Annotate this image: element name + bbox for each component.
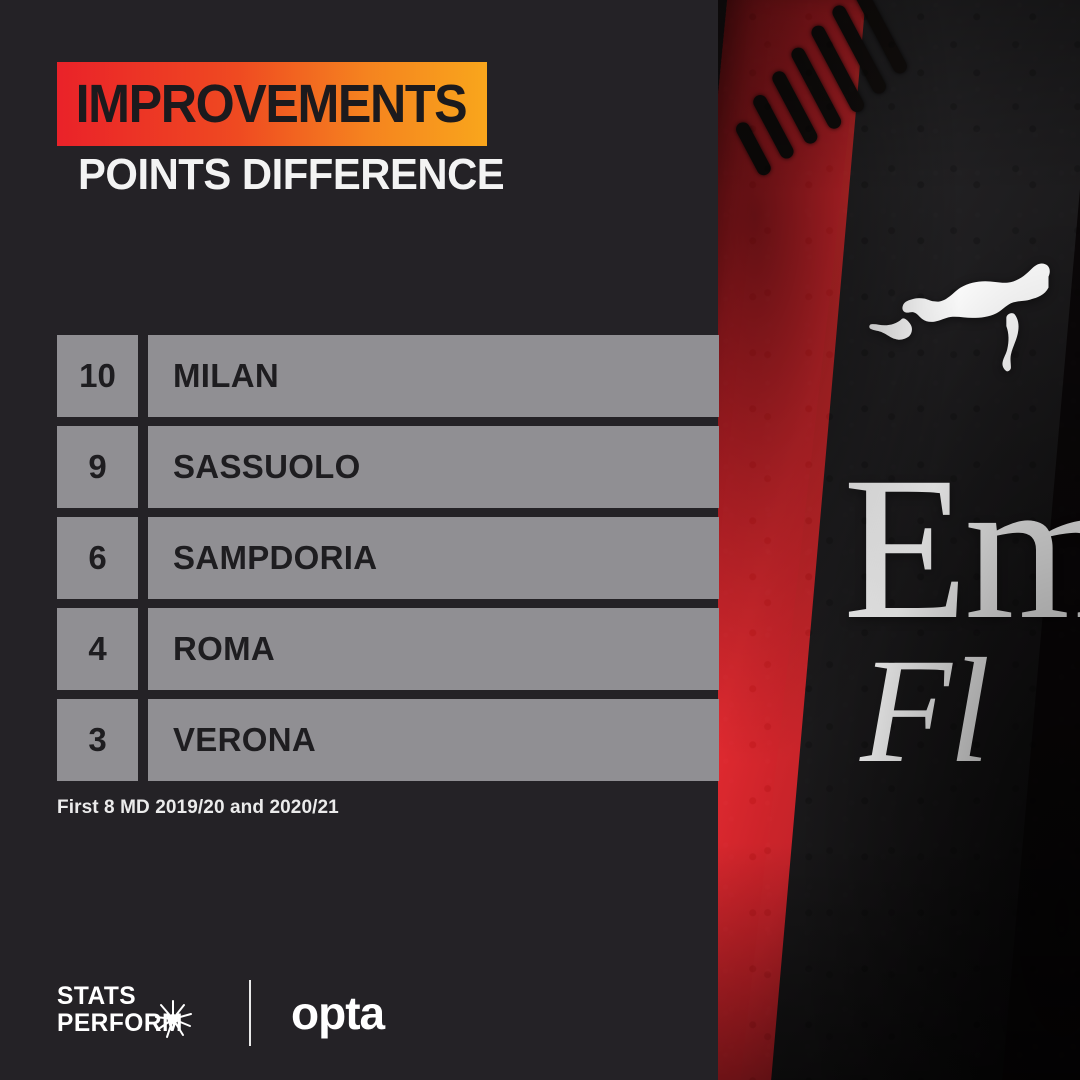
- table-row: 4 ROMA: [57, 608, 719, 690]
- row-value: 6: [57, 517, 138, 599]
- rankings-table: 10 MILAN 9 SASSUOLO 6 SAMPDORIA 4 ROMA 3…: [57, 335, 719, 790]
- row-team: SAMPDORIA: [148, 517, 719, 599]
- page-title: IMPROVEMENTS: [57, 73, 466, 135]
- row-value: 4: [57, 608, 138, 690]
- row-team: MILAN: [148, 335, 719, 417]
- row-team: ROMA: [148, 608, 719, 690]
- table-footnote: First 8 MD 2019/20 and 2020/21: [57, 797, 339, 819]
- jersey-photo: Em Fl: [718, 0, 1080, 1080]
- row-value: 3: [57, 699, 138, 781]
- table-row: 10 MILAN: [57, 335, 719, 417]
- page-subtitle: POINTS DIFFERENCE: [78, 150, 504, 200]
- photo-shading: [718, 0, 1080, 1080]
- title-banner: IMPROVEMENTS: [57, 62, 487, 146]
- row-team: SASSUOLO: [148, 426, 719, 508]
- stats-perform-logo: STATS PERFORM: [57, 983, 203, 1043]
- starburst-icon: [153, 999, 193, 1039]
- logo-divider: [249, 980, 251, 1046]
- row-value: 9: [57, 426, 138, 508]
- infographic-canvas: Em Fl IMPROVEMENTS POINTS DIFFERENCE 10 …: [0, 0, 1080, 1080]
- table-row: 9 SASSUOLO: [57, 426, 719, 508]
- table-row: 3 VERONA: [57, 699, 719, 781]
- table-row: 6 SAMPDORIA: [57, 517, 719, 599]
- opta-logo: opta: [291, 990, 384, 1036]
- row-team: VERONA: [148, 699, 719, 781]
- row-value: 10: [57, 335, 138, 417]
- footer-logos: STATS PERFORM opta: [57, 978, 384, 1048]
